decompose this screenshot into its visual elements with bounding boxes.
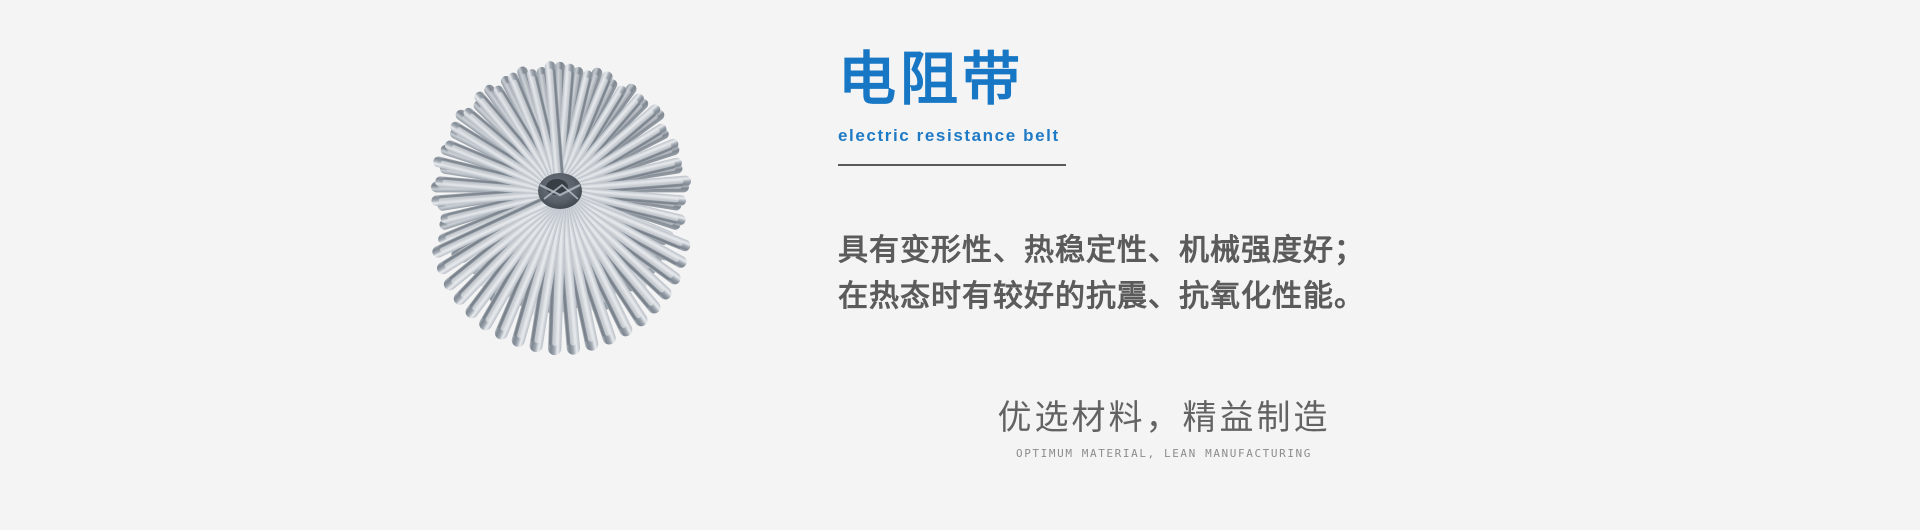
heading-block: 电阻带 electric resistance belt — [838, 48, 1268, 166]
tagline-english: OPTIMUM MATERIAL, LEAN MANUFACTURING — [954, 447, 1374, 461]
text-column: 电阻带 electric resistance belt 具有变形性、热稳定性、… — [838, 0, 1838, 530]
product-image — [360, 45, 760, 430]
page-title: 电阻带 — [838, 48, 1268, 110]
page-subtitle: electric resistance belt — [838, 126, 1268, 146]
title-divider — [838, 164, 1066, 166]
product-description: 具有变形性、热稳定性、机械强度好； 在热态时有较好的抗震、抗氧化性能。 — [838, 228, 1458, 320]
description-line-1: 具有变形性、热稳定性、机械强度好； — [838, 228, 1458, 274]
resistance-belt-coil-icon — [360, 45, 760, 430]
description-line-2: 在热态时有较好的抗震、抗氧化性能。 — [838, 274, 1458, 320]
tagline-chinese: 优选材料，精益制造 — [954, 398, 1374, 438]
hub — [538, 173, 582, 209]
tagline-block: 优选材料，精益制造 OPTIMUM MATERIAL, LEAN MANUFAC… — [954, 398, 1374, 461]
product-banner: 电阻带 electric resistance belt 具有变形性、热稳定性、… — [0, 0, 1920, 530]
